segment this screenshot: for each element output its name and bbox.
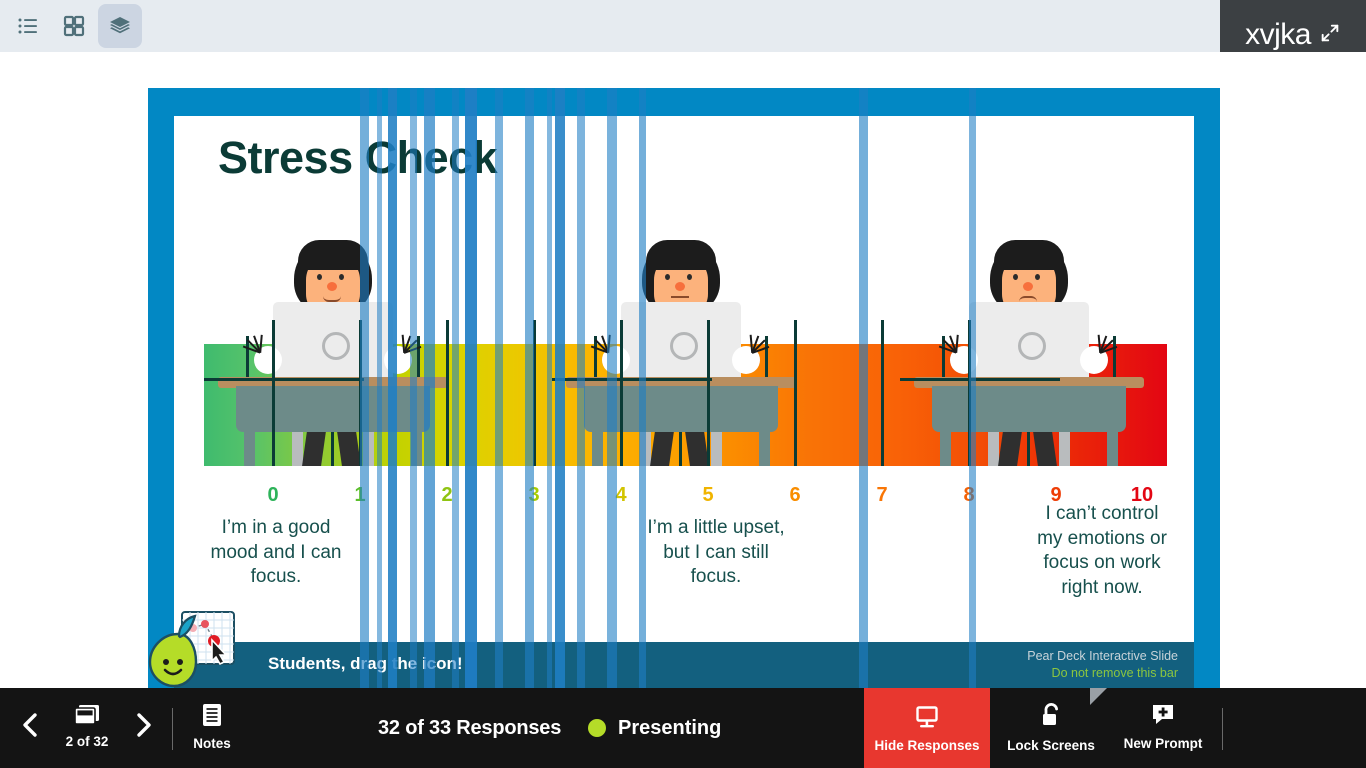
response-bar[interactable]: [410, 88, 417, 688]
slide-icon: [73, 702, 101, 731]
brand-name: xvjka: [1245, 20, 1311, 50]
response-bar[interactable]: [388, 88, 397, 688]
resize-corner-indicator: [1090, 688, 1107, 705]
unlock-icon: [1038, 702, 1064, 735]
slide-counter-button[interactable]: 2 of 32: [56, 702, 118, 749]
response-bar[interactable]: [525, 88, 534, 688]
response-bar[interactable]: [465, 88, 477, 688]
student-response-bars: [148, 88, 1220, 688]
chevron-left-icon: [19, 711, 41, 744]
hide-responses-label: Hide Responses: [874, 738, 979, 753]
notes-icon: [199, 702, 225, 733]
status-dot-icon: [588, 719, 606, 737]
response-bar[interactable]: [547, 88, 552, 688]
slide-counter-label: 2 of 32: [66, 734, 109, 749]
grid-view-button[interactable]: [52, 4, 96, 48]
list-icon: [17, 15, 39, 37]
expand-arrows-icon[interactable]: [1319, 22, 1341, 49]
toolbar-divider: [172, 708, 173, 750]
presenter-bottom-bar: 2 of 32: [0, 688, 1366, 768]
top-toolbar: [0, 0, 1366, 52]
response-bar[interactable]: [495, 88, 503, 688]
response-bar[interactable]: [639, 88, 646, 688]
presenting-status: Presenting: [588, 688, 721, 768]
presenting-status-label: Presenting: [618, 717, 721, 740]
response-bar[interactable]: [969, 88, 976, 688]
notes-label: Notes: [193, 736, 231, 751]
layers-view-button[interactable]: [98, 4, 142, 48]
slide-frame: Stress Check: [148, 88, 1220, 688]
next-slide-button[interactable]: [126, 704, 162, 750]
hide-responses-button[interactable]: Hide Responses: [864, 688, 990, 768]
response-bar[interactable]: [555, 88, 565, 688]
new-prompt-icon: [1150, 702, 1176, 733]
lock-screens-button[interactable]: Lock Screens: [990, 702, 1112, 753]
response-bar[interactable]: [360, 88, 369, 688]
grid-icon: [63, 15, 85, 37]
chevron-right-icon: [133, 711, 155, 744]
toolbar-divider-right: [1222, 708, 1223, 750]
pear-deck-presenter-app: xvjka Stress Check: [0, 0, 1366, 768]
responses-count: 32 of 33 Responses: [378, 688, 561, 768]
notes-button[interactable]: Notes: [182, 702, 242, 751]
response-bar[interactable]: [859, 88, 868, 688]
slide-stage: Stress Check: [0, 52, 1366, 688]
response-bar[interactable]: [607, 88, 617, 688]
response-bar[interactable]: [452, 88, 459, 688]
responses-count-label: 32 of 33 Responses: [378, 717, 561, 740]
layers-icon: [108, 14, 132, 38]
new-prompt-label: New Prompt: [1124, 736, 1203, 751]
projector-icon: [914, 704, 940, 735]
response-bar[interactable]: [424, 88, 435, 688]
response-bar[interactable]: [577, 88, 585, 688]
lock-screens-label: Lock Screens: [1007, 738, 1095, 753]
new-prompt-button[interactable]: New Prompt: [1108, 702, 1218, 751]
previous-slide-button[interactable]: [12, 704, 48, 750]
response-bar[interactable]: [377, 88, 382, 688]
list-view-button[interactable]: [6, 4, 50, 48]
